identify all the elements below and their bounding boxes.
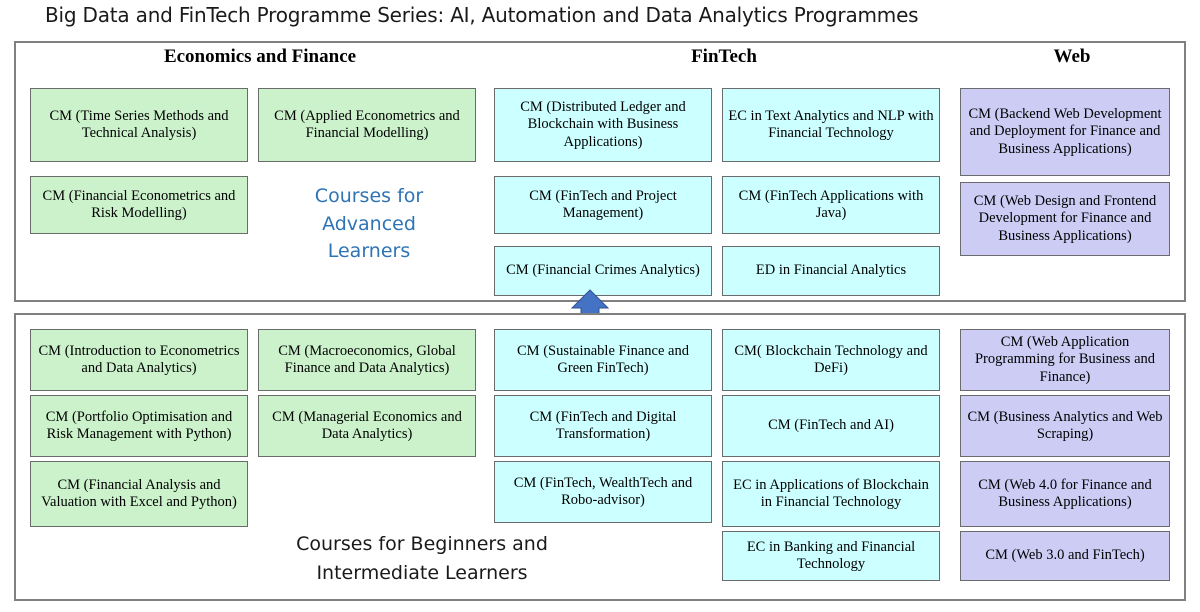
course-box[interactable]: CM (Introduction to Econometrics and Dat… — [30, 329, 248, 391]
beginner-callout-label: Courses for Beginners and Intermediate L… — [212, 530, 632, 587]
course-box[interactable]: ED in Financial Analytics — [722, 246, 940, 296]
course-box[interactable]: CM (Web Design and Frontend Development … — [960, 182, 1170, 256]
diagram-root: Big Data and FinTech Programme Series: A… — [0, 0, 1200, 612]
course-box[interactable]: CM (Time Series Methods and Technical An… — [30, 88, 248, 162]
advanced-column-headers: Economics and Finance FinTech Web — [16, 43, 1184, 71]
course-box[interactable]: CM (FinTech Applications with Java) — [722, 176, 940, 234]
course-box[interactable]: CM (Financial Econometrics and Risk Mode… — [30, 176, 248, 234]
course-box[interactable]: CM (FinTech and AI) — [722, 395, 940, 457]
course-box[interactable]: CM (Business Analytics and Web Scraping) — [960, 395, 1170, 457]
course-box[interactable]: CM (Portfolio Optimisation and Risk Mana… — [30, 395, 248, 457]
course-box[interactable]: CM (Web Application Programming for Busi… — [960, 329, 1170, 391]
advanced-callout-label: Courses for Advanced Learners — [260, 183, 478, 266]
course-box[interactable]: CM (Managerial Economics and Data Analyt… — [258, 395, 476, 457]
column-header-economics-finance: Economics and Finance — [30, 46, 490, 68]
course-box[interactable]: CM (Sustainable Finance and Green FinTec… — [494, 329, 712, 391]
column-header-web: Web — [960, 46, 1184, 68]
course-box[interactable]: CM (Applied Econometrics and Financial M… — [258, 88, 476, 162]
course-box[interactable]: CM (Macroeconomics, Global Finance and D… — [258, 329, 476, 391]
advanced-callout-line-2: Advanced — [260, 211, 478, 239]
column-header-fintech: FinTech — [494, 46, 954, 68]
course-box[interactable]: CM (FinTech and Digital Transformation) — [494, 395, 712, 457]
course-box[interactable]: CM (Web 3.0 and FinTech) — [960, 531, 1170, 581]
beginner-callout-line-1: Courses for Beginners and — [212, 530, 632, 559]
beginner-courses-panel: CM (Introduction to Econometrics and Dat… — [14, 313, 1186, 601]
course-box[interactable]: CM (Backend Web Development and Deployme… — [960, 88, 1170, 176]
advanced-callout-line-3: Learners — [260, 238, 478, 266]
advanced-courses-panel: Economics and Finance FinTech Web CM (Ti… — [14, 41, 1186, 302]
beginner-callout-line-2: Intermediate Learners — [212, 559, 632, 588]
course-box[interactable]: EC in Applications of Blockchain in Fina… — [722, 461, 940, 527]
course-box[interactable]: CM (Web 4.0 for Finance and Business App… — [960, 461, 1170, 527]
course-box[interactable]: EC in Text Analytics and NLP with Financ… — [722, 88, 940, 162]
page-title: Big Data and FinTech Programme Series: A… — [45, 3, 1165, 27]
course-box[interactable]: CM (Distributed Ledger and Blockchain wi… — [494, 88, 712, 162]
course-box[interactable]: CM (Financial Analysis and Valuation wit… — [30, 461, 248, 527]
course-box[interactable]: CM (FinTech, WealthTech and Robo-advisor… — [494, 461, 712, 523]
course-box[interactable]: CM( Blockchain Technology and DeFi) — [722, 329, 940, 391]
course-box[interactable]: EC in Banking and Financial Technology — [722, 531, 940, 581]
advanced-callout-line-1: Courses for — [260, 183, 478, 211]
course-box[interactable]: CM (FinTech and Project Management) — [494, 176, 712, 234]
